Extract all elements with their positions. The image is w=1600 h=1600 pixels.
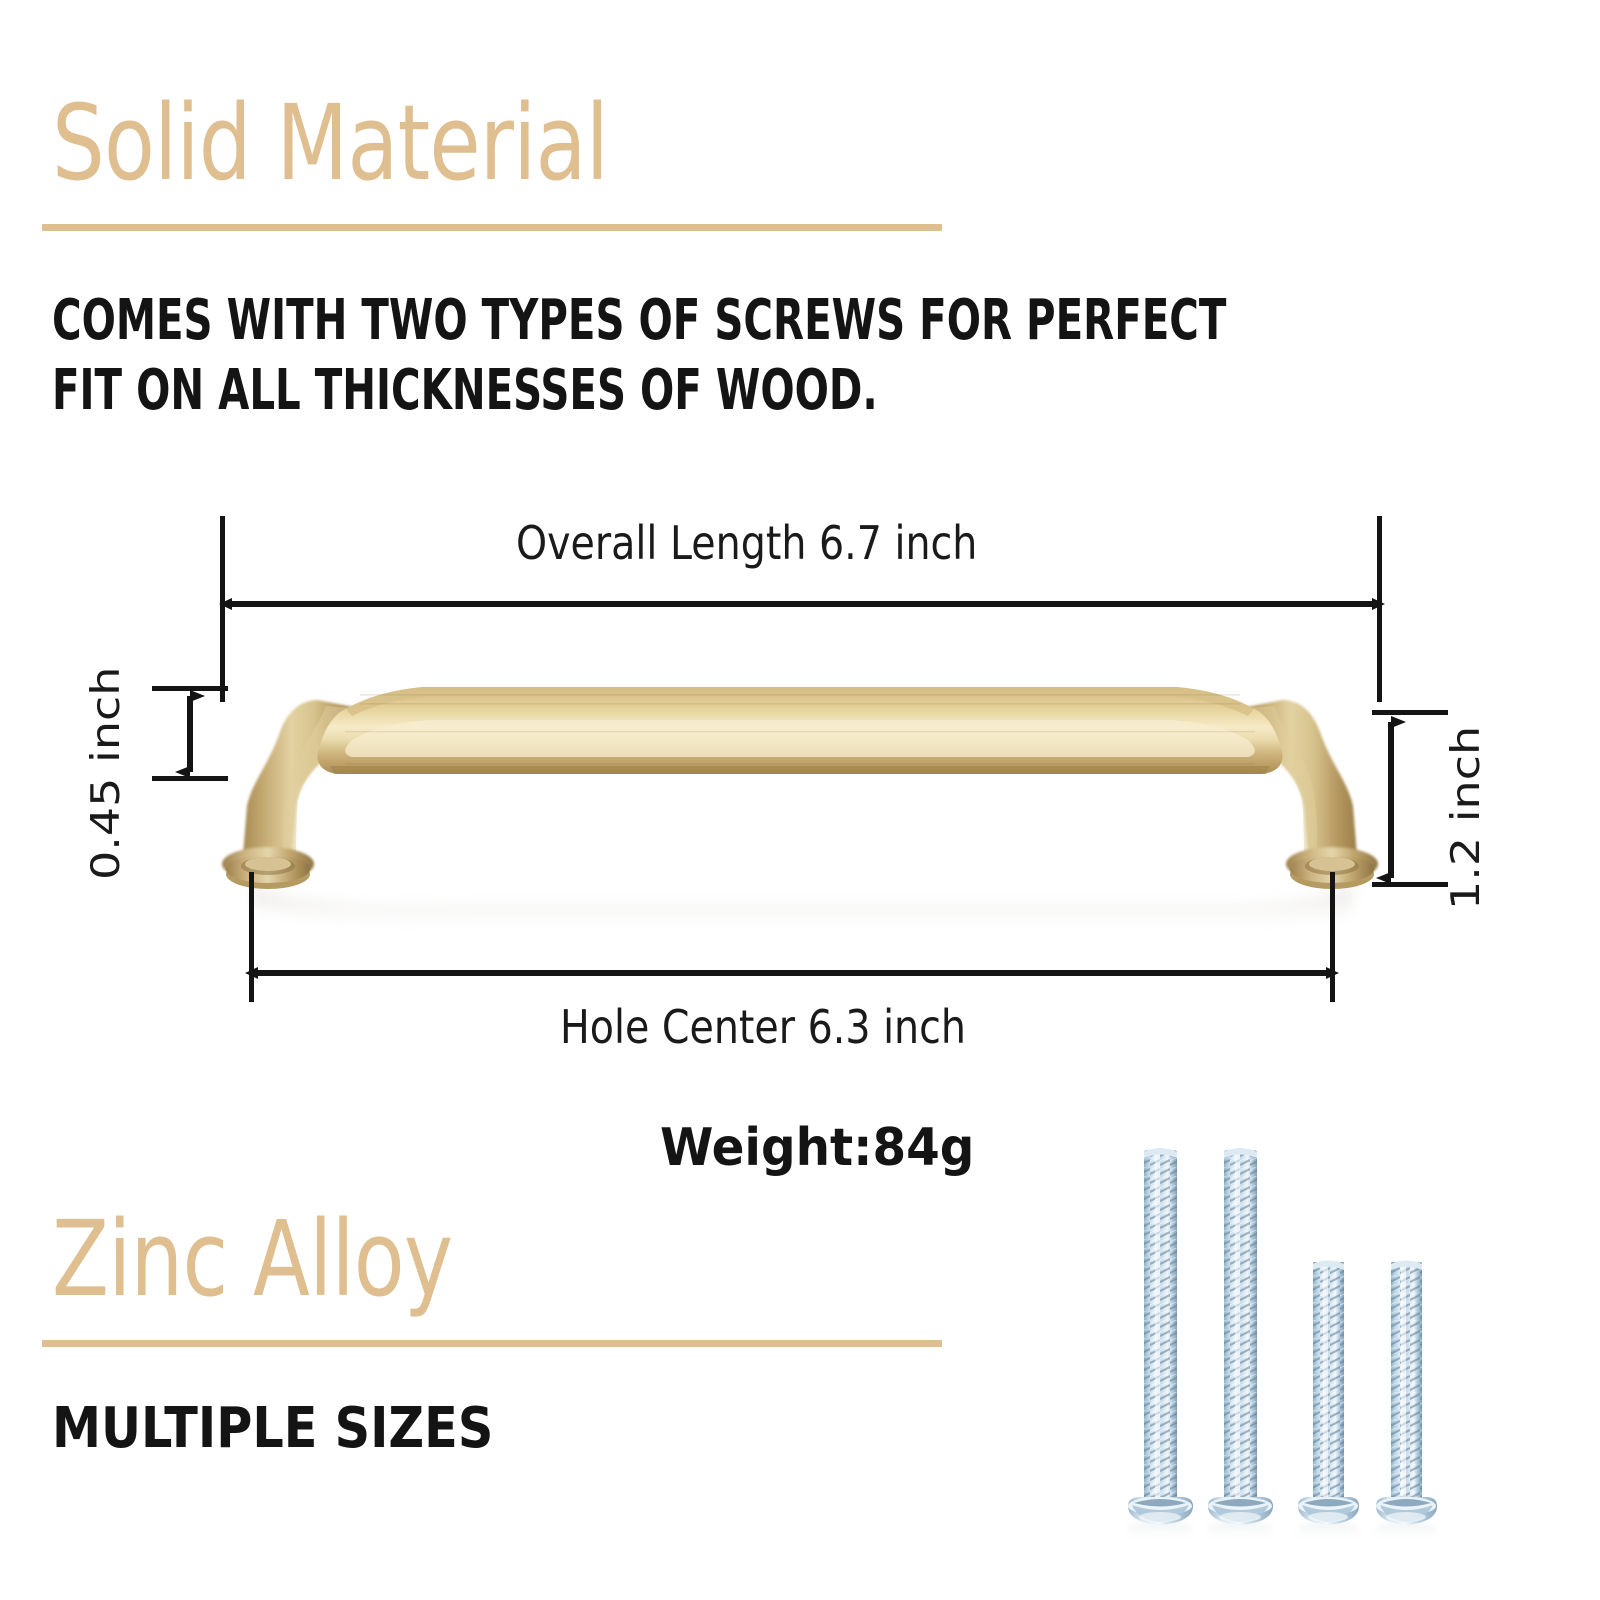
section-divider-zinc-alloy	[42, 1340, 942, 1347]
screw-short-2	[1376, 1261, 1437, 1526]
dimension-label-projection: 0.45 inch	[82, 667, 128, 880]
screw-long-1	[1128, 1148, 1193, 1525]
dimension-label-height: 1.2 inch	[1442, 726, 1488, 910]
screw-short-1	[1298, 1261, 1359, 1526]
section-title-zinc-alloy: Zinc Alloy	[52, 1198, 452, 1320]
screws-illustration	[1120, 1140, 1500, 1560]
dimension-label-overall-length: Overall Length 6.7 inch	[516, 516, 977, 570]
infographic-canvas: Solid Material COMES WITH TWO TYPES OF S…	[0, 0, 1600, 1600]
weight-label: Weight:84g	[660, 1118, 974, 1178]
dimension-label-hole-center: Hole Center 6.3 inch	[560, 1000, 966, 1054]
caption-multiple-sizes: MULTIPLE SIZES	[52, 1396, 493, 1461]
screw-long-2	[1208, 1148, 1273, 1525]
